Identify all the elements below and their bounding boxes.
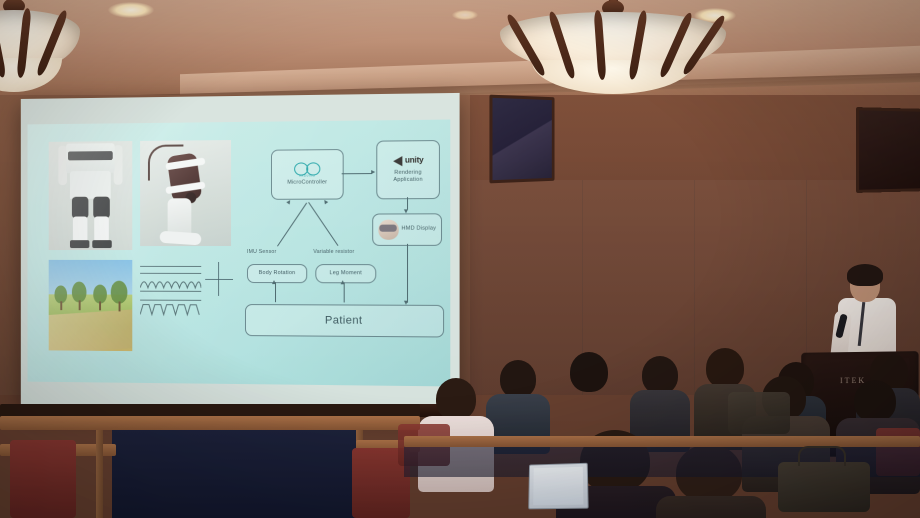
edge-arrow-hmd-patient bbox=[404, 301, 408, 305]
diagram-node-patient: Patient bbox=[245, 304, 444, 337]
plot-axis bbox=[140, 291, 201, 292]
arduino-infinity-right bbox=[306, 162, 320, 175]
downlight bbox=[108, 2, 154, 18]
hmd-label: HMD Display bbox=[402, 226, 437, 233]
belt bbox=[68, 151, 113, 160]
leg-orthosis-device-photo bbox=[140, 140, 231, 246]
diagram-node-hmd-display: HMD Display bbox=[372, 213, 442, 246]
edge-arrow-leg-moment bbox=[323, 199, 329, 205]
calf bbox=[94, 216, 109, 242]
shorts bbox=[70, 171, 111, 199]
label-imu-sensor: IMU Sensor bbox=[247, 249, 276, 255]
projection-screen: ARDUINO MicroController unity Rendering … bbox=[21, 93, 460, 414]
arduino-logo bbox=[294, 162, 320, 173]
diagram-node-microcontroller: ARDUINO MicroController bbox=[271, 149, 344, 200]
laptop-screen bbox=[533, 467, 583, 505]
arm bbox=[114, 145, 123, 185]
plot-axis bbox=[140, 266, 201, 267]
tree-trunk bbox=[99, 301, 101, 310]
calf bbox=[73, 216, 88, 242]
head bbox=[706, 348, 744, 388]
edge-patient-to-body-rotation bbox=[275, 282, 276, 302]
microcontroller-label: MicroController bbox=[287, 179, 327, 186]
patient-legs-photo bbox=[49, 141, 133, 250]
head bbox=[642, 356, 678, 394]
unity-logo: unity bbox=[393, 156, 424, 167]
unity-label-line2: Application bbox=[393, 177, 422, 184]
chandelier-lower-bowl bbox=[0, 58, 62, 92]
edge-arrow-patient-body bbox=[272, 280, 276, 284]
edge-leg-moment-to-microcontroller bbox=[308, 202, 338, 246]
unity-wordmark: unity bbox=[405, 156, 424, 167]
waveform-trace-lower bbox=[140, 301, 201, 317]
edge-arrow-to-hmd bbox=[404, 209, 408, 213]
label-variable-resistor: Variable resistor bbox=[313, 249, 354, 255]
edge-patient-to-leg-moment bbox=[344, 282, 345, 302]
edge-unity-to-hmd bbox=[407, 197, 408, 209]
virtual-park-scene-photo bbox=[49, 260, 133, 351]
edge-hmd-to-patient bbox=[407, 244, 408, 303]
lecture-hall-photo: ARDUINO MicroController unity Rendering … bbox=[0, 0, 920, 518]
system-architecture-diagram: ARDUINO MicroController unity Rendering … bbox=[245, 134, 444, 374]
waveform-trace-upper bbox=[140, 274, 201, 290]
edge-body-rotation-to-microcontroller bbox=[277, 203, 307, 247]
knee-brace bbox=[72, 197, 88, 219]
bag-handle bbox=[798, 446, 846, 466]
path bbox=[49, 310, 133, 352]
pendant-chandelier-left bbox=[0, 0, 80, 94]
head bbox=[436, 378, 476, 420]
tree bbox=[72, 282, 87, 303]
tree bbox=[111, 281, 128, 304]
unity-cube-icon bbox=[393, 156, 402, 166]
sensor-waveform-plot bbox=[140, 260, 235, 336]
knee-brace bbox=[93, 197, 110, 219]
diagram-node-body-rotation: Body Rotation bbox=[247, 264, 307, 283]
chair bbox=[10, 440, 76, 518]
tree-trunk bbox=[79, 300, 81, 310]
desk-top bbox=[0, 416, 420, 430]
wall-monitor-right bbox=[856, 107, 920, 193]
foot bbox=[92, 240, 111, 248]
tree-trunk bbox=[119, 302, 121, 312]
diagram-node-unity: unity Rendering Application bbox=[376, 140, 440, 199]
head bbox=[854, 380, 896, 422]
presenter-hair bbox=[847, 264, 883, 286]
foot bbox=[70, 240, 89, 248]
downlight bbox=[452, 10, 478, 20]
wall-monitor-left bbox=[489, 95, 554, 184]
bag bbox=[778, 462, 870, 512]
vr-headset-head-icon bbox=[378, 220, 398, 240]
tree-trunk bbox=[60, 301, 62, 310]
edge-arrow-patient-leg bbox=[341, 280, 345, 284]
presentation-slide: ARDUINO MicroController unity Rendering … bbox=[28, 120, 451, 387]
axis-crosshair-diagram bbox=[205, 262, 233, 296]
edge-arrow-to-unity bbox=[371, 170, 375, 174]
diagram-node-leg-moment: Leg Moment bbox=[315, 264, 376, 283]
edge-arrow-body-rotation bbox=[286, 199, 292, 205]
bag bbox=[728, 392, 790, 434]
edge-microcontroller-to-unity bbox=[342, 173, 373, 174]
open-laptop bbox=[528, 463, 588, 510]
desk-top bbox=[404, 436, 920, 447]
desk-leg bbox=[96, 430, 103, 518]
desk-front-panel bbox=[112, 430, 362, 518]
head bbox=[570, 352, 608, 392]
head bbox=[500, 360, 536, 398]
